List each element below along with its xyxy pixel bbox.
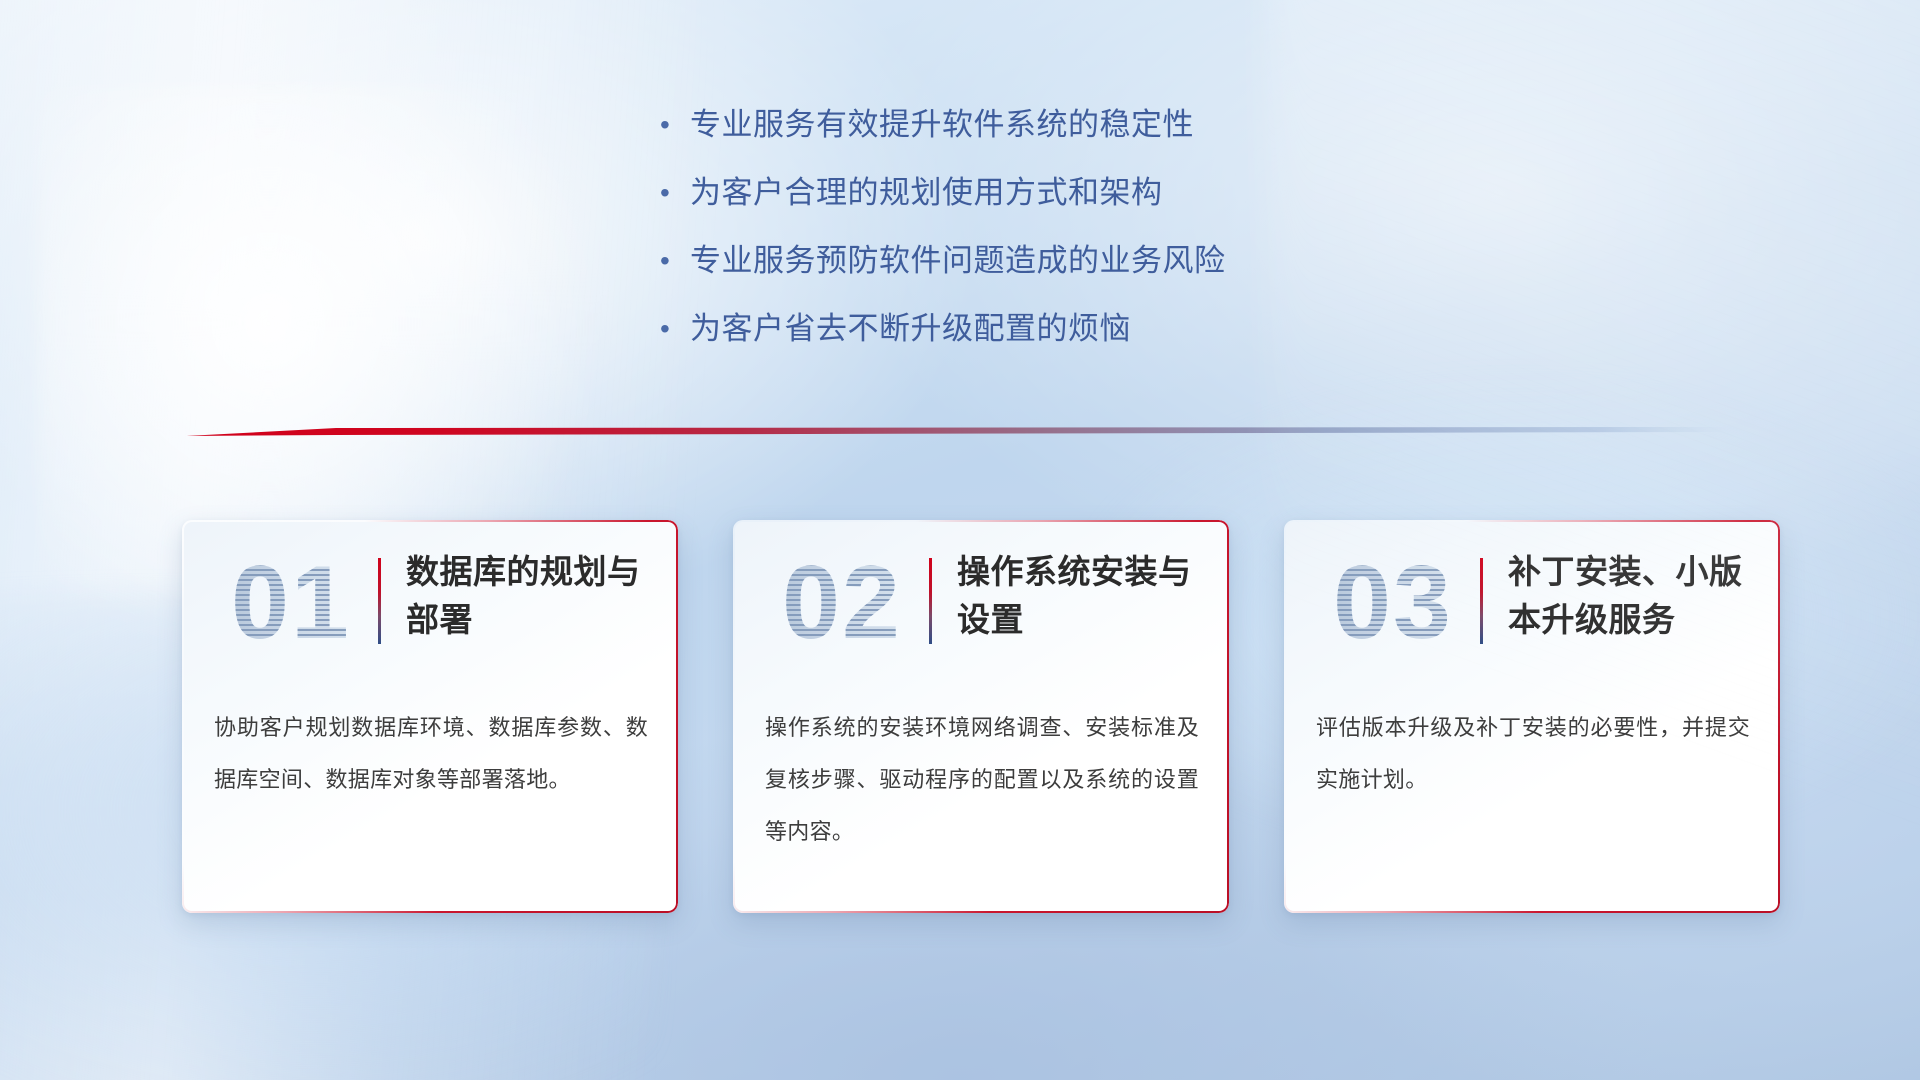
- bullet-text: 专业服务有效提升软件系统的稳定性: [690, 104, 1194, 146]
- card-title: 补丁安装、小版本升级服务: [1508, 548, 1758, 644]
- card-divider-rule: [378, 558, 381, 644]
- service-card[interactable]: 01 数据库的规划与部署 协助客户规划数据库环境、数据库参数、数据库空间、数据库…: [182, 520, 678, 913]
- card-number: 03: [1308, 540, 1478, 666]
- card-description: 评估版本升级及补丁安装的必要性，并提交实施计划。: [1316, 702, 1750, 806]
- list-item: • 专业服务预防软件问题造成的业务风险: [660, 240, 1560, 282]
- card-title: 数据库的规划与部署: [406, 548, 656, 644]
- card-number: 01: [206, 540, 376, 666]
- bullet-dot-icon: •: [660, 172, 690, 214]
- slide-canvas: • 专业服务有效提升软件系统的稳定性 • 为客户合理的规划使用方式和架构 • 专…: [0, 0, 1920, 1080]
- service-card[interactable]: 03 补丁安装、小版本升级服务 评估版本升级及补丁安装的必要性，并提交实施计划。: [1284, 520, 1780, 913]
- card-header: 02 操作系统安装与设置: [733, 546, 1229, 664]
- benefits-bullet-list: • 专业服务有效提升软件系统的稳定性 • 为客户合理的规划使用方式和架构 • 专…: [660, 104, 1560, 376]
- bullet-dot-icon: •: [660, 104, 690, 146]
- card-number: 02: [757, 540, 927, 666]
- bullet-text: 为客户省去不断升级配置的烦恼: [690, 308, 1131, 350]
- list-item: • 为客户合理的规划使用方式和架构: [660, 172, 1560, 214]
- card-divider-rule: [929, 558, 932, 644]
- bullet-dot-icon: •: [660, 240, 690, 282]
- bullet-text: 专业服务预防软件问题造成的业务风险: [690, 240, 1226, 282]
- bullet-dot-icon: •: [660, 308, 690, 350]
- list-item: • 专业服务有效提升软件系统的稳定性: [660, 104, 1560, 146]
- service-card-list: 01 数据库的规划与部署 协助客户规划数据库环境、数据库参数、数据库空间、数据库…: [182, 520, 1802, 920]
- bullet-text: 为客户合理的规划使用方式和架构: [690, 172, 1163, 214]
- service-card[interactable]: 02 操作系统安装与设置 操作系统的安装环境网络调查、安装标准及复核步骤、驱动程…: [733, 520, 1229, 913]
- card-header: 01 数据库的规划与部署: [182, 546, 678, 664]
- card-description: 操作系统的安装环境网络调查、安装标准及复核步骤、驱动程序的配置以及系统的设置等内…: [765, 702, 1199, 858]
- card-description: 协助客户规划数据库环境、数据库参数、数据库空间、数据库对象等部署落地。: [214, 702, 648, 806]
- list-item: • 为客户省去不断升级配置的烦恼: [660, 308, 1560, 350]
- divider-accent-line: [186, 424, 1726, 440]
- card-divider-rule: [1480, 558, 1483, 644]
- card-title: 操作系统安装与设置: [957, 548, 1207, 644]
- card-header: 03 补丁安装、小版本升级服务: [1284, 546, 1780, 664]
